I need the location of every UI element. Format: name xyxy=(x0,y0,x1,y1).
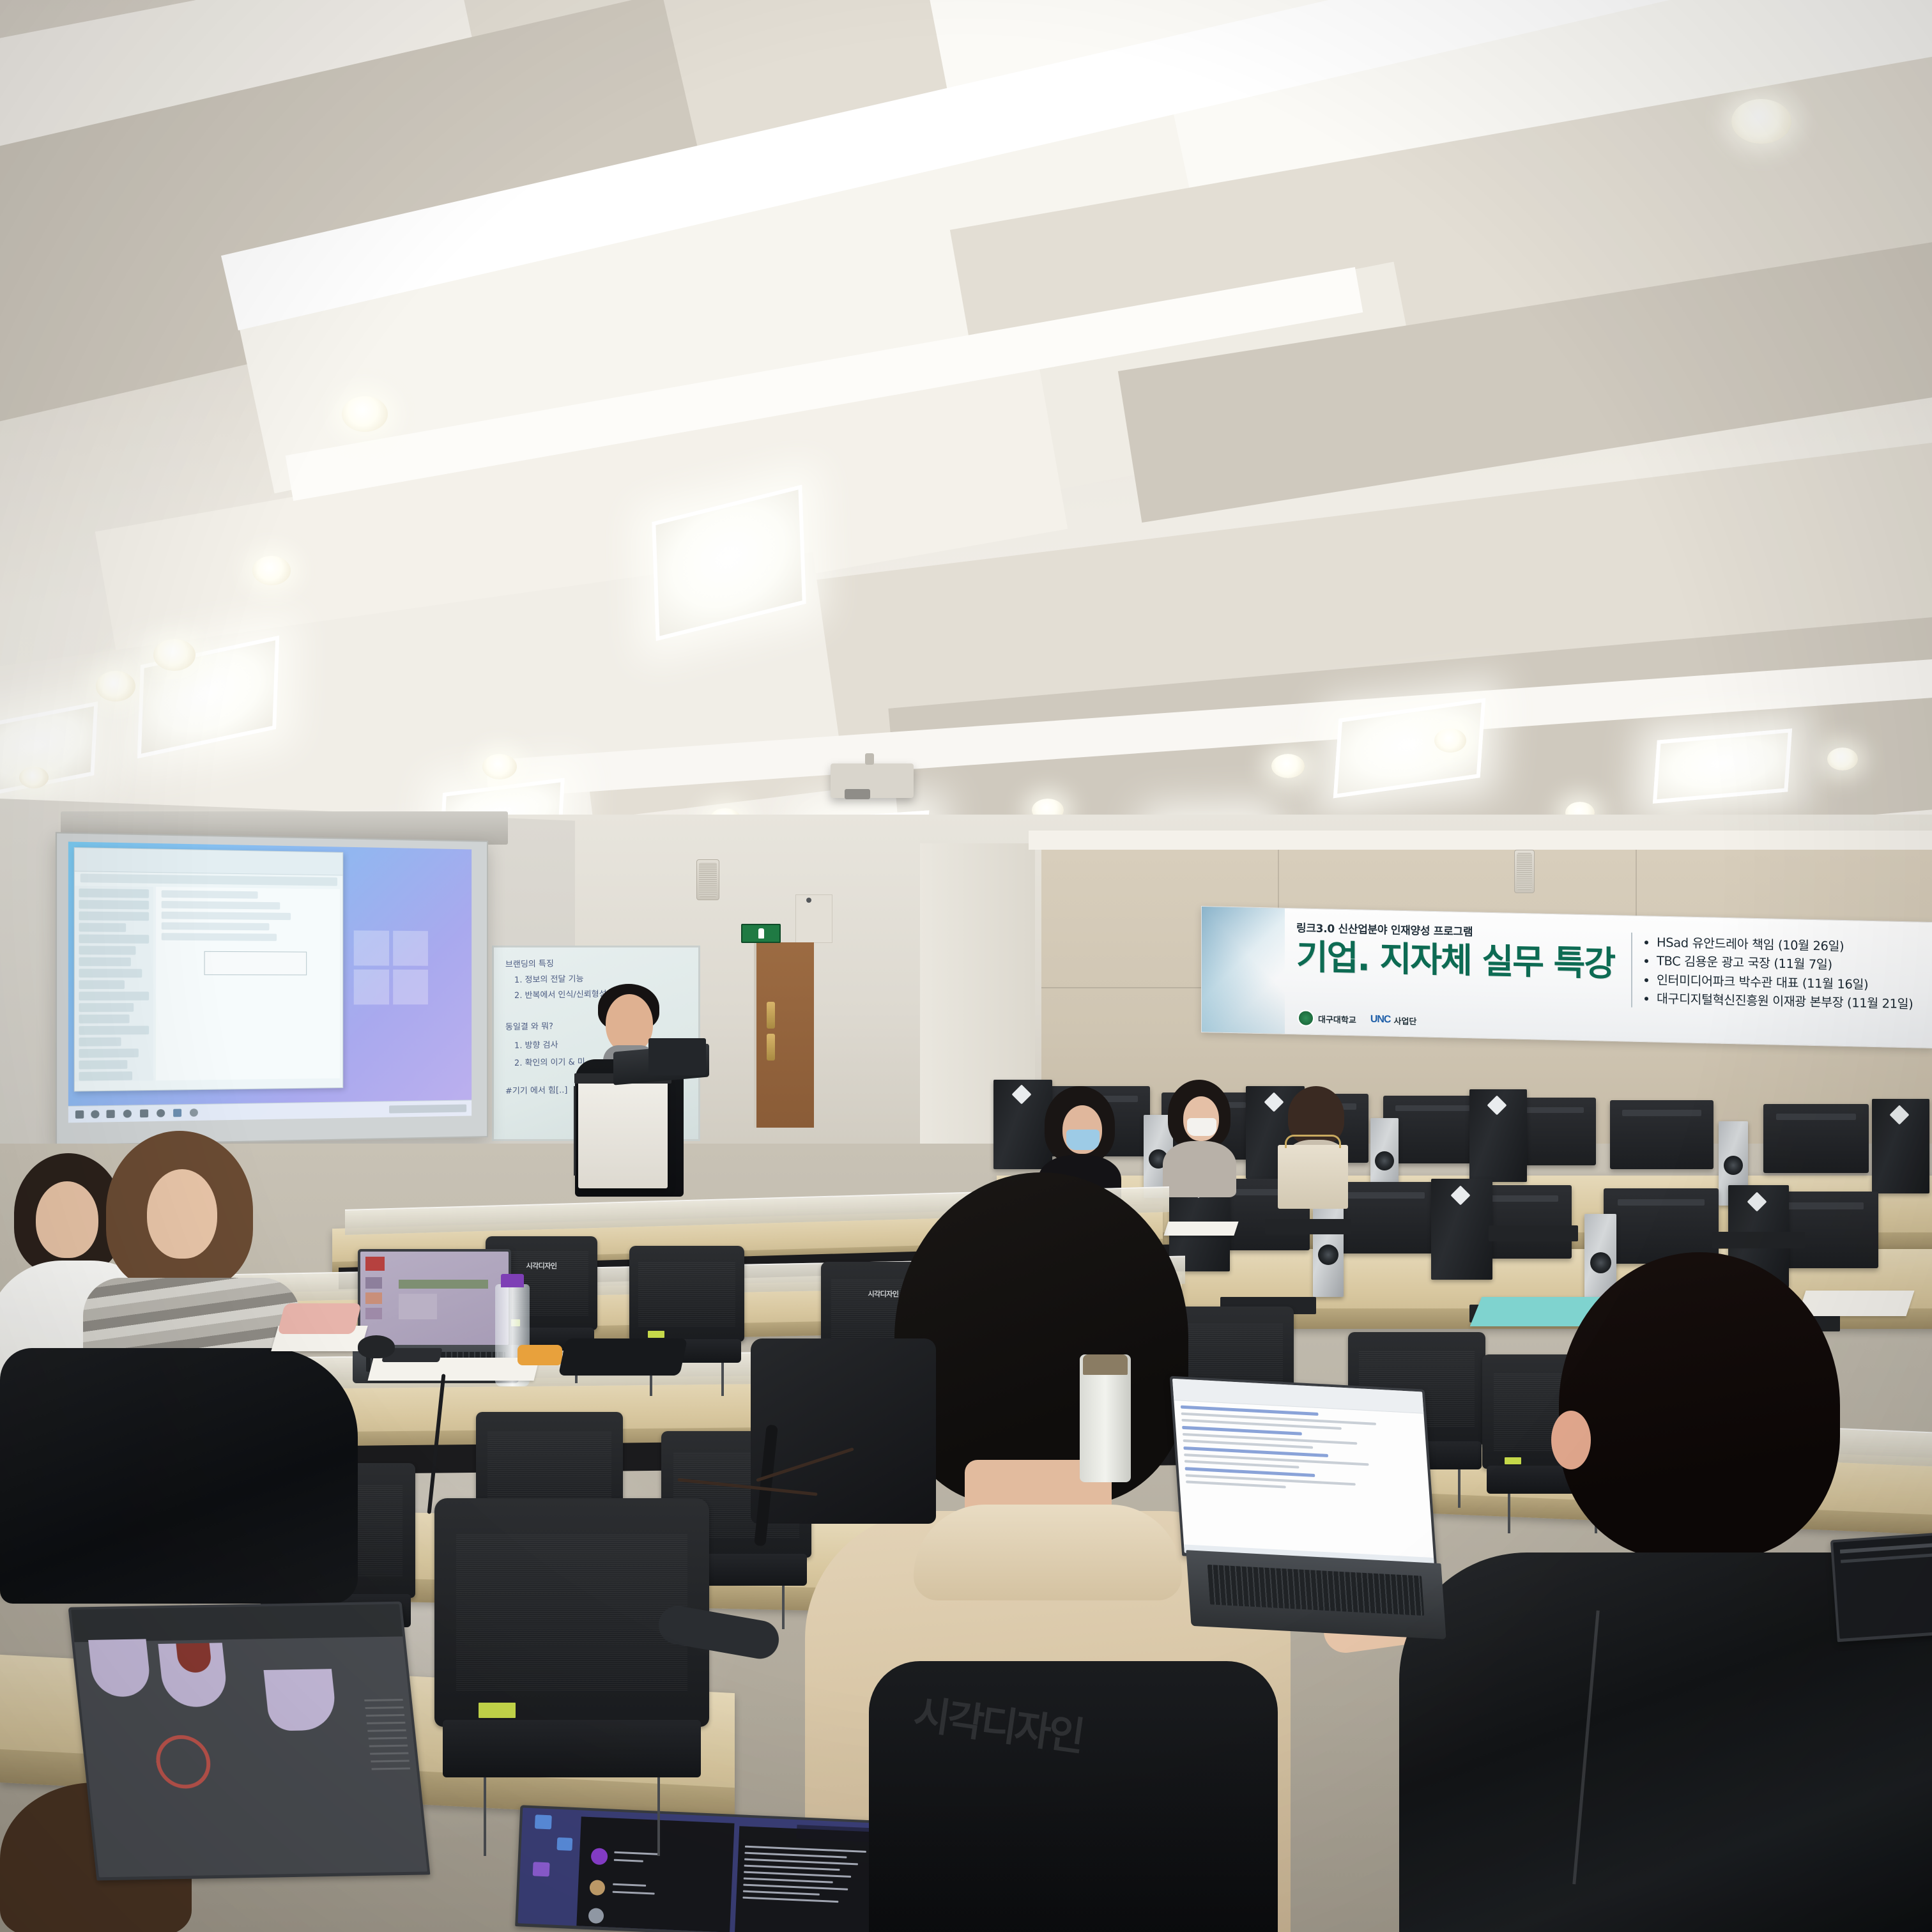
explorer-navigation-pane[interactable] xyxy=(75,885,153,1081)
banner-logo-row: 대구대학교 UNC 사업단 xyxy=(1298,1009,1416,1029)
podium-monitor xyxy=(648,1038,706,1075)
vector-outline xyxy=(153,1735,213,1789)
unc-logo-text: UNC xyxy=(1370,1014,1391,1026)
downlight xyxy=(482,754,517,779)
ceiling-projector xyxy=(831,763,914,798)
desktop-tower xyxy=(1469,1089,1527,1182)
laptop-center[interactable] xyxy=(1176,1383,1444,1639)
search-icon[interactable] xyxy=(91,1110,99,1119)
program-label: 사업단 xyxy=(1393,1014,1416,1027)
downlight xyxy=(252,556,291,585)
projected-desktop xyxy=(68,841,471,1123)
door-handle[interactable] xyxy=(767,1034,775,1061)
bottle-cap xyxy=(501,1274,525,1287)
laptop-lid xyxy=(1170,1376,1437,1570)
wall-speaker xyxy=(1514,850,1535,893)
whiteboard-line: #기기 에서 힘[..] xyxy=(505,1085,568,1098)
exit-sign-icon xyxy=(741,924,781,943)
keyboard[interactable] xyxy=(1712,1232,1805,1248)
explorer-tooltip xyxy=(204,951,307,976)
downlight xyxy=(1827,747,1858,770)
explorer-icon[interactable] xyxy=(173,1109,181,1117)
mouse[interactable] xyxy=(358,1335,395,1358)
explorer-ribbon[interactable] xyxy=(75,848,342,875)
laptop-screen[interactable] xyxy=(360,1252,509,1345)
podium xyxy=(578,1080,668,1188)
face-mask xyxy=(1066,1130,1100,1150)
whiteboard-line: 1. 방향 검사 xyxy=(514,1039,558,1052)
panel-dots xyxy=(364,1693,410,1770)
desktop-monitor xyxy=(1763,1104,1869,1173)
wall-speaker xyxy=(696,859,719,900)
edge-icon[interactable] xyxy=(157,1109,165,1117)
start-icon[interactable] xyxy=(75,1110,84,1119)
file-explorer-window[interactable] xyxy=(74,847,344,1092)
laptop-screen[interactable] xyxy=(1172,1379,1434,1566)
windows-taskbar[interactable] xyxy=(68,1100,471,1123)
store-icon[interactable] xyxy=(190,1108,198,1117)
whiteboard-line: 브랜딩의 특징 xyxy=(505,958,554,971)
banner-speaker-list: HSad 유안드레아 책임 (10월 26일) TBC 김용운 광고 국장 (1… xyxy=(1631,933,1913,1014)
downlight xyxy=(1731,99,1791,144)
pencil-case[interactable] xyxy=(558,1338,687,1376)
bag-handle xyxy=(1285,1135,1341,1148)
university-name: 대구대학교 xyxy=(1318,1012,1356,1025)
laptop-lid xyxy=(358,1249,511,1348)
banner-graphic xyxy=(1202,907,1285,1034)
app-toolbar[interactable] xyxy=(71,1604,402,1642)
event-banner: 링크3.0 신산업분야 인재양성 프로그램 기업. 지자체 실무 특강 대구대학… xyxy=(1201,906,1932,1048)
system-tray[interactable] xyxy=(389,1105,466,1114)
laptop-keyboard[interactable] xyxy=(1207,1565,1424,1615)
classroom-door[interactable] xyxy=(754,942,814,1128)
tumbler-lid xyxy=(1083,1354,1128,1375)
face-mask xyxy=(1187,1118,1216,1136)
laptop-lid xyxy=(1830,1527,1932,1643)
laptop-screen[interactable] xyxy=(71,1604,427,1878)
black-coat-on-chair xyxy=(0,1348,358,1604)
laptop-screen[interactable] xyxy=(1833,1529,1932,1639)
door-handle[interactable] xyxy=(767,1002,775,1029)
windows-logo-icon xyxy=(354,930,432,1008)
downlight xyxy=(1271,754,1305,778)
desktop-monitor xyxy=(1610,1100,1713,1169)
downlight xyxy=(96,671,135,701)
ceiling-soffit-edge xyxy=(1029,831,1932,850)
university-logo-icon xyxy=(1298,1009,1314,1027)
downlight xyxy=(153,639,195,671)
wall-sensor xyxy=(806,898,811,903)
thermal-tumbler[interactable] xyxy=(1080,1354,1131,1482)
desktop-tower xyxy=(1872,1099,1929,1193)
downlight xyxy=(19,767,49,788)
chair-back xyxy=(629,1246,744,1342)
ear xyxy=(1551,1411,1591,1469)
laptop-front-left[interactable] xyxy=(83,1604,441,1897)
projection-screen xyxy=(56,832,488,1146)
ceiling xyxy=(0,0,1932,850)
downlight xyxy=(342,396,388,432)
downlight xyxy=(1434,728,1466,753)
whiteboard-line: 동일결 와 뭐? xyxy=(505,1021,553,1034)
classroom-chair[interactable] xyxy=(434,1498,709,1856)
laptop-lid xyxy=(68,1602,431,1881)
explorer-addressbar[interactable] xyxy=(80,873,337,885)
whiteboard-line: 1. 정보의 전달 기능 xyxy=(514,974,584,987)
tote-bag xyxy=(1278,1145,1348,1209)
asset-tag xyxy=(479,1703,516,1718)
classroom-photo: 브랜딩의 특징 1. 정보의 전달 기능 2. 반복에서 인식/신뢰형성 동일결… xyxy=(0,0,1932,1932)
ceiling-panel-light xyxy=(1653,728,1792,803)
wall-access-panel xyxy=(795,894,832,943)
keyboard[interactable] xyxy=(1489,1225,1578,1241)
explorer-file-list[interactable] xyxy=(156,887,340,1080)
backpack[interactable] xyxy=(751,1338,936,1524)
collar xyxy=(914,1505,1182,1600)
cortana-icon[interactable] xyxy=(123,1110,132,1118)
folder-icon[interactable] xyxy=(140,1109,148,1117)
orange-object xyxy=(517,1345,562,1365)
laptop-keyboard-deck[interactable] xyxy=(1186,1550,1446,1639)
pink-pouch xyxy=(277,1303,362,1334)
asset-tag xyxy=(648,1331,664,1338)
laptop-right[interactable] xyxy=(1834,1533,1932,1680)
microphone-stand xyxy=(574,1086,576,1176)
banner-title: 기업. 지자체 실무 특강 xyxy=(1296,939,1622,983)
task-view-icon[interactable] xyxy=(107,1110,115,1118)
